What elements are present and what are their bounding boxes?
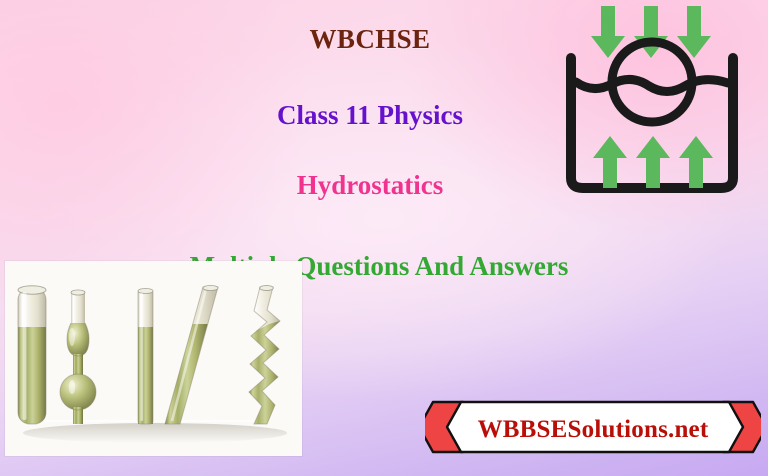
poster-canvas: WBCHSE Class 11 Physics Hydrostatics Mul…: [0, 0, 768, 476]
vessel-narrow-straight: [138, 288, 153, 424]
site-logo-banner[interactable]: [425, 396, 761, 464]
buoyancy-diagram-icon: [557, 2, 747, 198]
down-arrow-icon: [591, 6, 711, 58]
vessel-wide-cylinder: [18, 286, 46, 424]
up-arrow-icon: [593, 136, 713, 188]
banner-plate: [447, 402, 743, 452]
water-surface-wave-icon: [576, 79, 728, 91]
communicating-vessels-photo: [5, 261, 302, 456]
